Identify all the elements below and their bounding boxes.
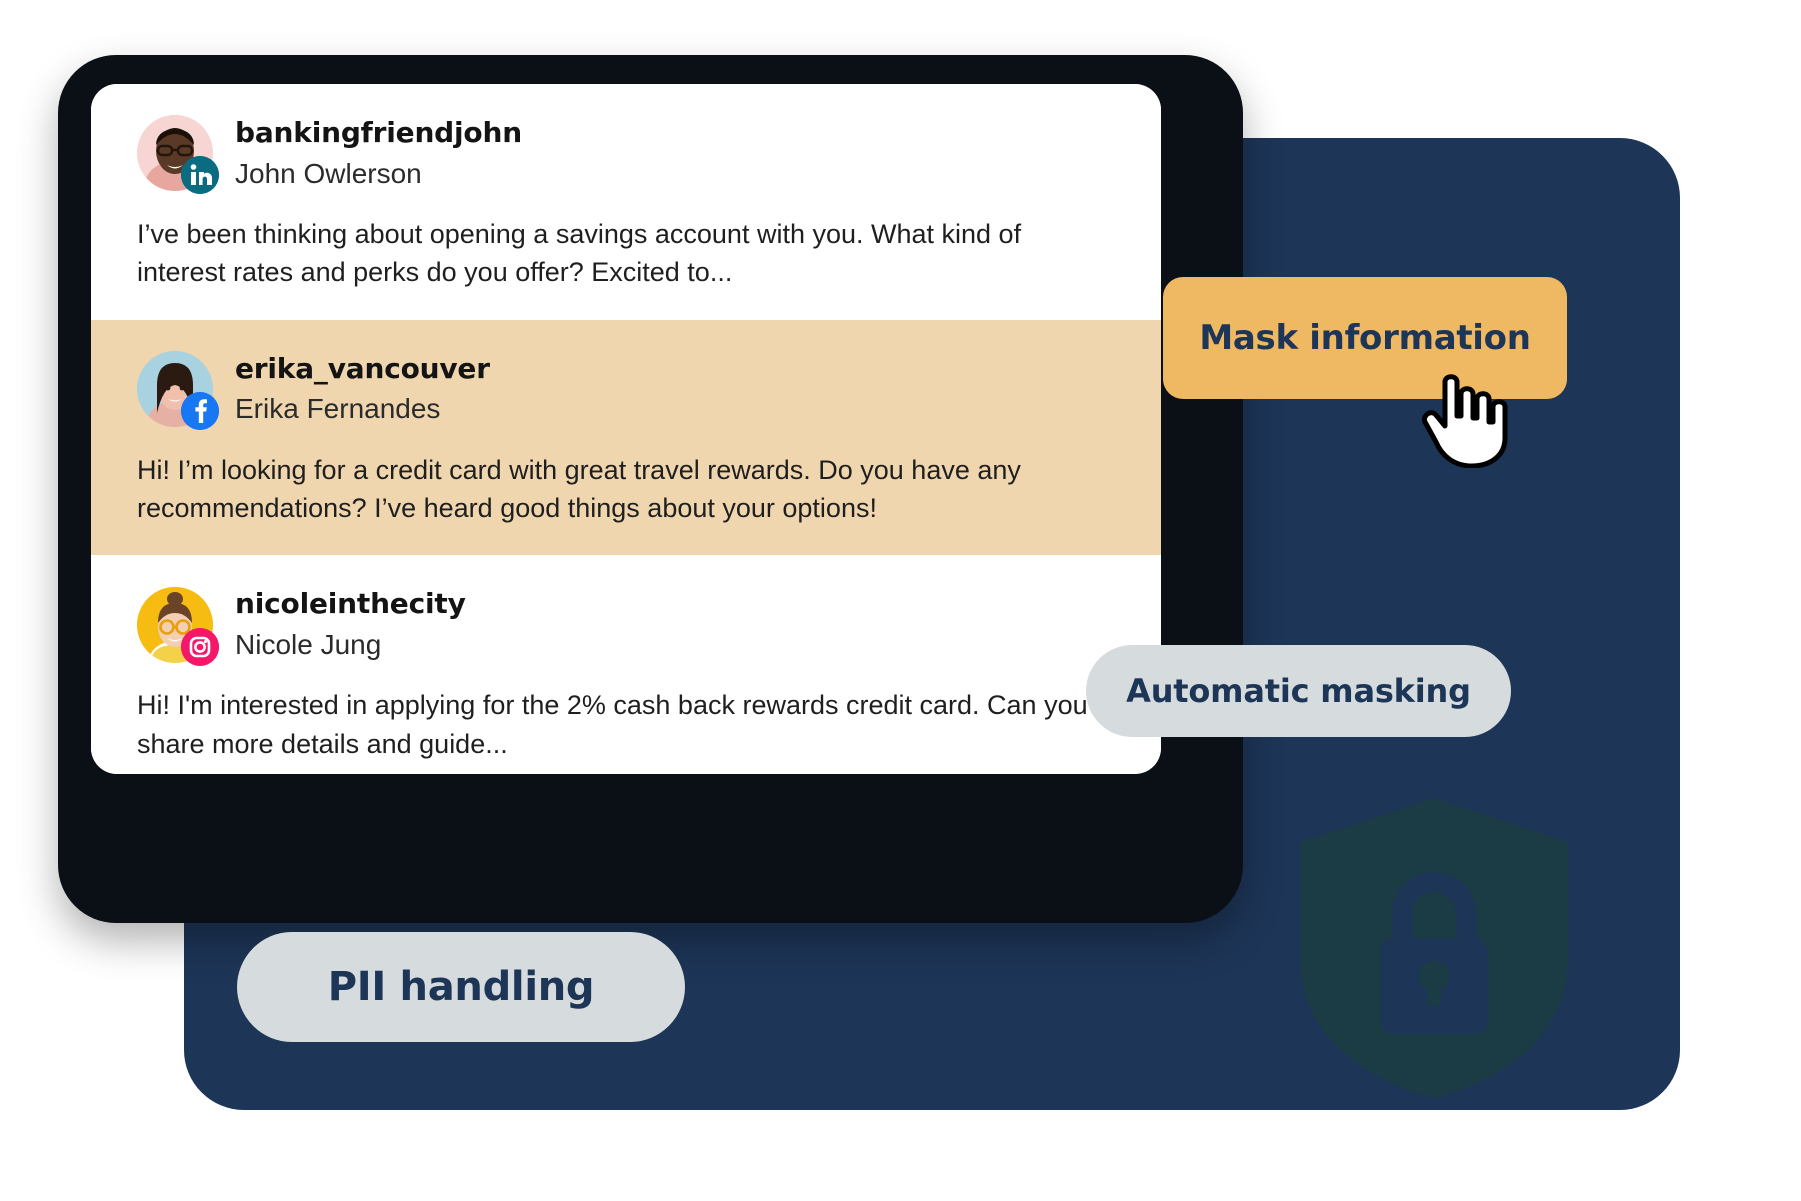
message-handle: nicoleinthecity xyxy=(235,585,466,623)
automatic-masking-label: Automatic masking xyxy=(1126,672,1471,710)
message-author: bankingfriendjohn John Owlerson xyxy=(235,114,522,193)
message-fullname: Nicole Jung xyxy=(235,625,466,664)
message-list-card: bankingfriendjohn John Owlerson I’ve bee… xyxy=(91,84,1161,774)
automatic-masking-badge[interactable]: Automatic masking xyxy=(1086,645,1511,737)
avatar-nicole-jung xyxy=(137,587,213,663)
message-handle: bankingfriendjohn xyxy=(235,114,522,152)
message-fullname: John Owlerson xyxy=(235,154,522,193)
message-header: bankingfriendjohn John Owlerson xyxy=(137,114,1115,193)
message-author: erika_vancouver Erika Fernandes xyxy=(235,350,490,429)
facebook-icon xyxy=(181,392,219,430)
message-text: Hi! I’m looking for a credit card with g… xyxy=(137,451,1097,528)
pointing-hand-cursor-icon xyxy=(1418,372,1512,468)
shield-lock-icon xyxy=(1300,798,1568,1098)
message-header: erika_vancouver Erika Fernandes xyxy=(137,350,1115,429)
message-text: I’ve been thinking about opening a savin… xyxy=(137,215,1097,292)
message-text: Hi! I'm interested in applying for the 2… xyxy=(137,686,1097,763)
message-fullname: Erika Fernandes xyxy=(235,389,490,428)
instagram-icon xyxy=(181,628,219,666)
message-item[interactable]: nicoleinthecity Nicole Jung Hi! I'm inte… xyxy=(91,555,1161,774)
message-item[interactable]: erika_vancouver Erika Fernandes Hi! I’m … xyxy=(91,320,1161,556)
avatar-john-owlerson xyxy=(137,115,213,191)
avatar-erika-fernandes xyxy=(137,351,213,427)
message-author: nicoleinthecity Nicole Jung xyxy=(235,585,466,664)
mask-information-label: Mask information xyxy=(1199,318,1530,358)
message-header: nicoleinthecity Nicole Jung xyxy=(137,585,1115,664)
linkedin-icon xyxy=(181,156,219,194)
illustration-stage: bankingfriendjohn John Owlerson I’ve bee… xyxy=(0,0,1801,1201)
pii-handling-label: PII handling xyxy=(328,964,595,1010)
pii-handling-badge[interactable]: PII handling xyxy=(237,932,685,1042)
message-item[interactable]: bankingfriendjohn John Owlerson I’ve bee… xyxy=(91,84,1161,320)
message-handle: erika_vancouver xyxy=(235,350,490,388)
